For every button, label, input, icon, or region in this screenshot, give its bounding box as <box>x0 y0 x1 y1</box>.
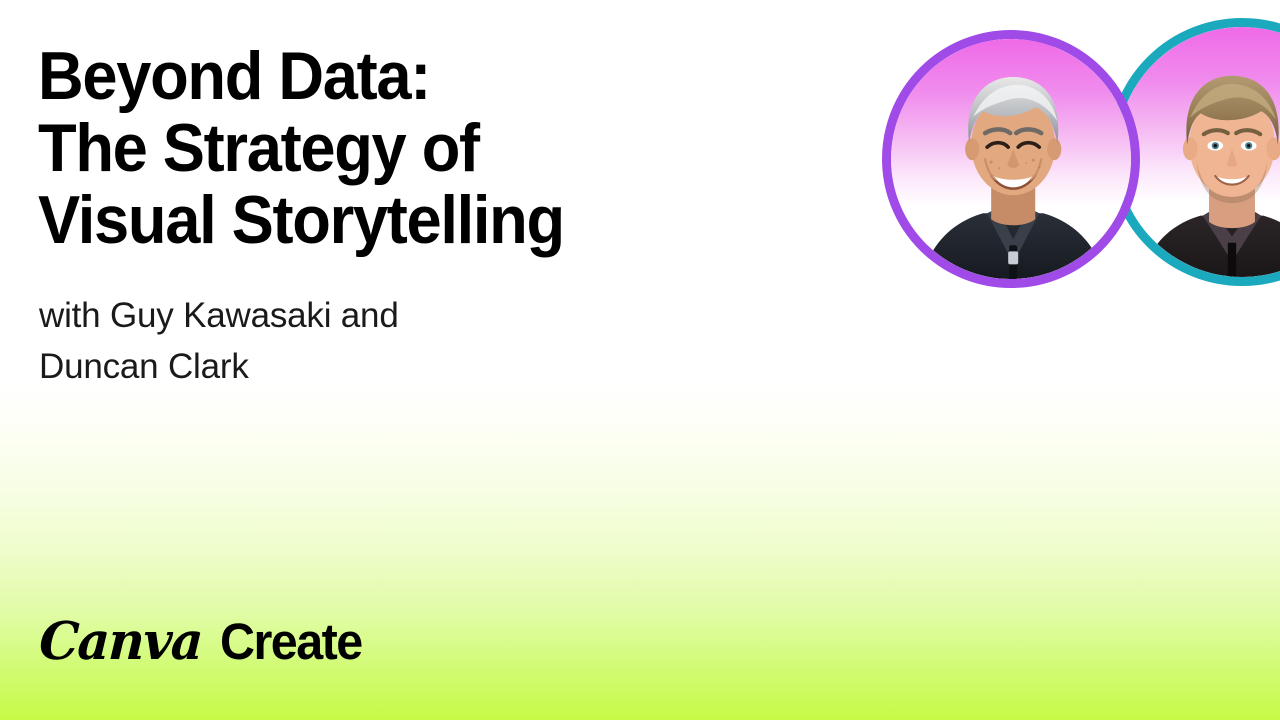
create-wordmark: Create <box>220 616 362 667</box>
canva-wordmark: Canva <box>38 616 203 668</box>
page-title: Beyond Data: The Strategy of Visual Stor… <box>38 40 801 256</box>
speakers-subtitle: with Guy Kawasaki and Duncan Clark <box>39 290 739 392</box>
presentation-slide: Beyond Data: The Strategy of Visual Stor… <box>0 0 1280 720</box>
canva-create-logo: Canva Create <box>38 616 369 668</box>
slide-content: Beyond Data: The Strategy of Visual Stor… <box>0 0 1280 720</box>
